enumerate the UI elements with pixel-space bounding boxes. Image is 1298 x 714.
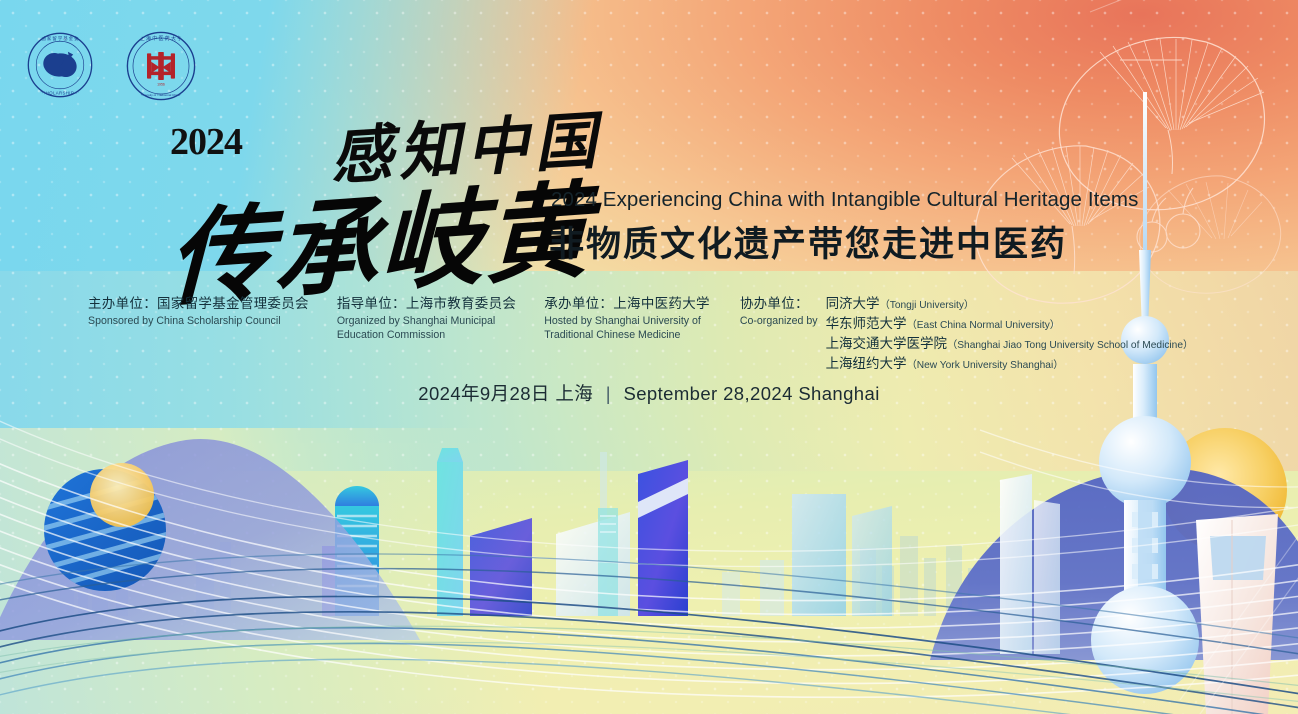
svg-text:1956: 1956 bbox=[157, 83, 165, 87]
credit-host-en-1: Hosted by Shanghai University of bbox=[544, 314, 710, 328]
title-year: 2024 bbox=[170, 120, 242, 164]
coorganizer-en: （East China Normal University） bbox=[907, 320, 1060, 331]
coorganizer-label-en: Co-organized by bbox=[740, 314, 818, 328]
date-separator: | bbox=[599, 383, 618, 404]
credit-host-label: 承办单位： bbox=[544, 296, 613, 311]
credit-host: 承办单位：上海中医药大学 Hosted by Shanghai Universi… bbox=[544, 294, 740, 374]
event-date-cn: 2024年9月28日 上海 bbox=[418, 383, 593, 404]
credit-organizer-value: 上海市教育委员会 bbox=[406, 296, 516, 311]
subtitle-english: 2024 Experiencing China with Intangible … bbox=[551, 188, 1138, 212]
coorganizer-cn: 同济大学 bbox=[826, 296, 880, 311]
credit-sponsor: 主办单位：国家留学基金管理委员会 Sponsored by China Scho… bbox=[88, 294, 337, 374]
coorganizer-en: （Tongji University） bbox=[880, 300, 975, 311]
coorganizer-item: 华东师范大学（East China Normal University） bbox=[826, 314, 1194, 334]
credits-block: 主办单位：国家留学基金管理委员会 Sponsored by China Scho… bbox=[88, 294, 1193, 374]
credit-organizer-cn: 指导单位：上海市教育委员会 bbox=[337, 294, 516, 314]
coorganizer-en: （New York University Shanghai） bbox=[907, 360, 1064, 371]
coorganizer-list: 同济大学（Tongji University） 华东师范大学（East Chin… bbox=[826, 294, 1194, 374]
building-pale bbox=[556, 512, 630, 616]
coorganizer-cn: 华东师范大学 bbox=[826, 316, 907, 331]
poster-banner: CHINA SCHOLARSHIP COUNCIL 国 家 留 学 基 金 委 … bbox=[0, 0, 1298, 714]
credit-host-en-2: Traditional Chinese Medicine bbox=[544, 328, 710, 342]
ginkgo-leaf-icon bbox=[1140, 176, 1281, 293]
credit-organizer-en-1: Organized by Shanghai Municipal bbox=[337, 314, 516, 328]
coorganizer-item: 上海交通大学医学院（Shanghai Jiao Tong University … bbox=[826, 334, 1194, 354]
building-right-a bbox=[792, 494, 846, 616]
credit-host-value: 上海中医药大学 bbox=[613, 296, 710, 311]
coorganizer-item: 同济大学（Tongji University） bbox=[826, 294, 1194, 314]
event-date-line: 2024年9月28日 上海 | September 28,2024 Shangh… bbox=[0, 380, 1298, 406]
event-date-en: September 28,2024 Shanghai bbox=[623, 383, 879, 404]
subtitle-chinese: 非物质文化遗产带您走进中医药 bbox=[549, 216, 1067, 267]
credit-sponsor-value: 国家留学基金管理委员会 bbox=[157, 296, 309, 311]
coorganizer-label-cn: 协办单位： bbox=[740, 294, 818, 314]
coorganizer-labels: 协办单位： Co-organized by bbox=[740, 294, 818, 374]
coorganizer-cn: 上海交通大学医学院 bbox=[826, 336, 948, 351]
credit-sponsor-en-1: Sponsored by China Scholarship Council bbox=[88, 314, 309, 328]
coorganizer-en: （Shanghai Jiao Tong University School of… bbox=[947, 340, 1193, 351]
credit-organizer-en-2: Education Commission bbox=[337, 328, 516, 342]
china-scholarship-council-logo: CHINA SCHOLARSHIP COUNCIL 国 家 留 学 基 金 委 bbox=[27, 32, 93, 98]
credit-sponsor-label: 主办单位： bbox=[88, 296, 157, 311]
coorganizer-cn: 上海纽约大学 bbox=[826, 356, 907, 371]
coorganizer-item: 上海纽约大学（New York University Shanghai） bbox=[826, 354, 1194, 374]
credit-coorganizers: 协办单位： Co-organized by 同济大学（Tongji Univer… bbox=[740, 294, 1193, 374]
credit-organizer-label: 指导单位： bbox=[337, 296, 406, 311]
svg-text:国 家 留 学 基 金 委: 国 家 留 学 基 金 委 bbox=[41, 35, 79, 42]
credit-sponsor-cn: 主办单位：国家留学基金管理委员会 bbox=[88, 294, 309, 314]
shanghai-university-tcm-logo: 1956 上 海 中 医 药 大 学 Shanghai University o… bbox=[126, 31, 196, 101]
credit-host-cn: 承办单位：上海中医药大学 bbox=[544, 294, 710, 314]
skyline-main bbox=[322, 448, 892, 616]
credit-organizer: 指导单位：上海市教育委员会 Organized by Shanghai Muni… bbox=[337, 294, 544, 374]
ginkgo-leaf-icon bbox=[1059, 37, 1264, 209]
